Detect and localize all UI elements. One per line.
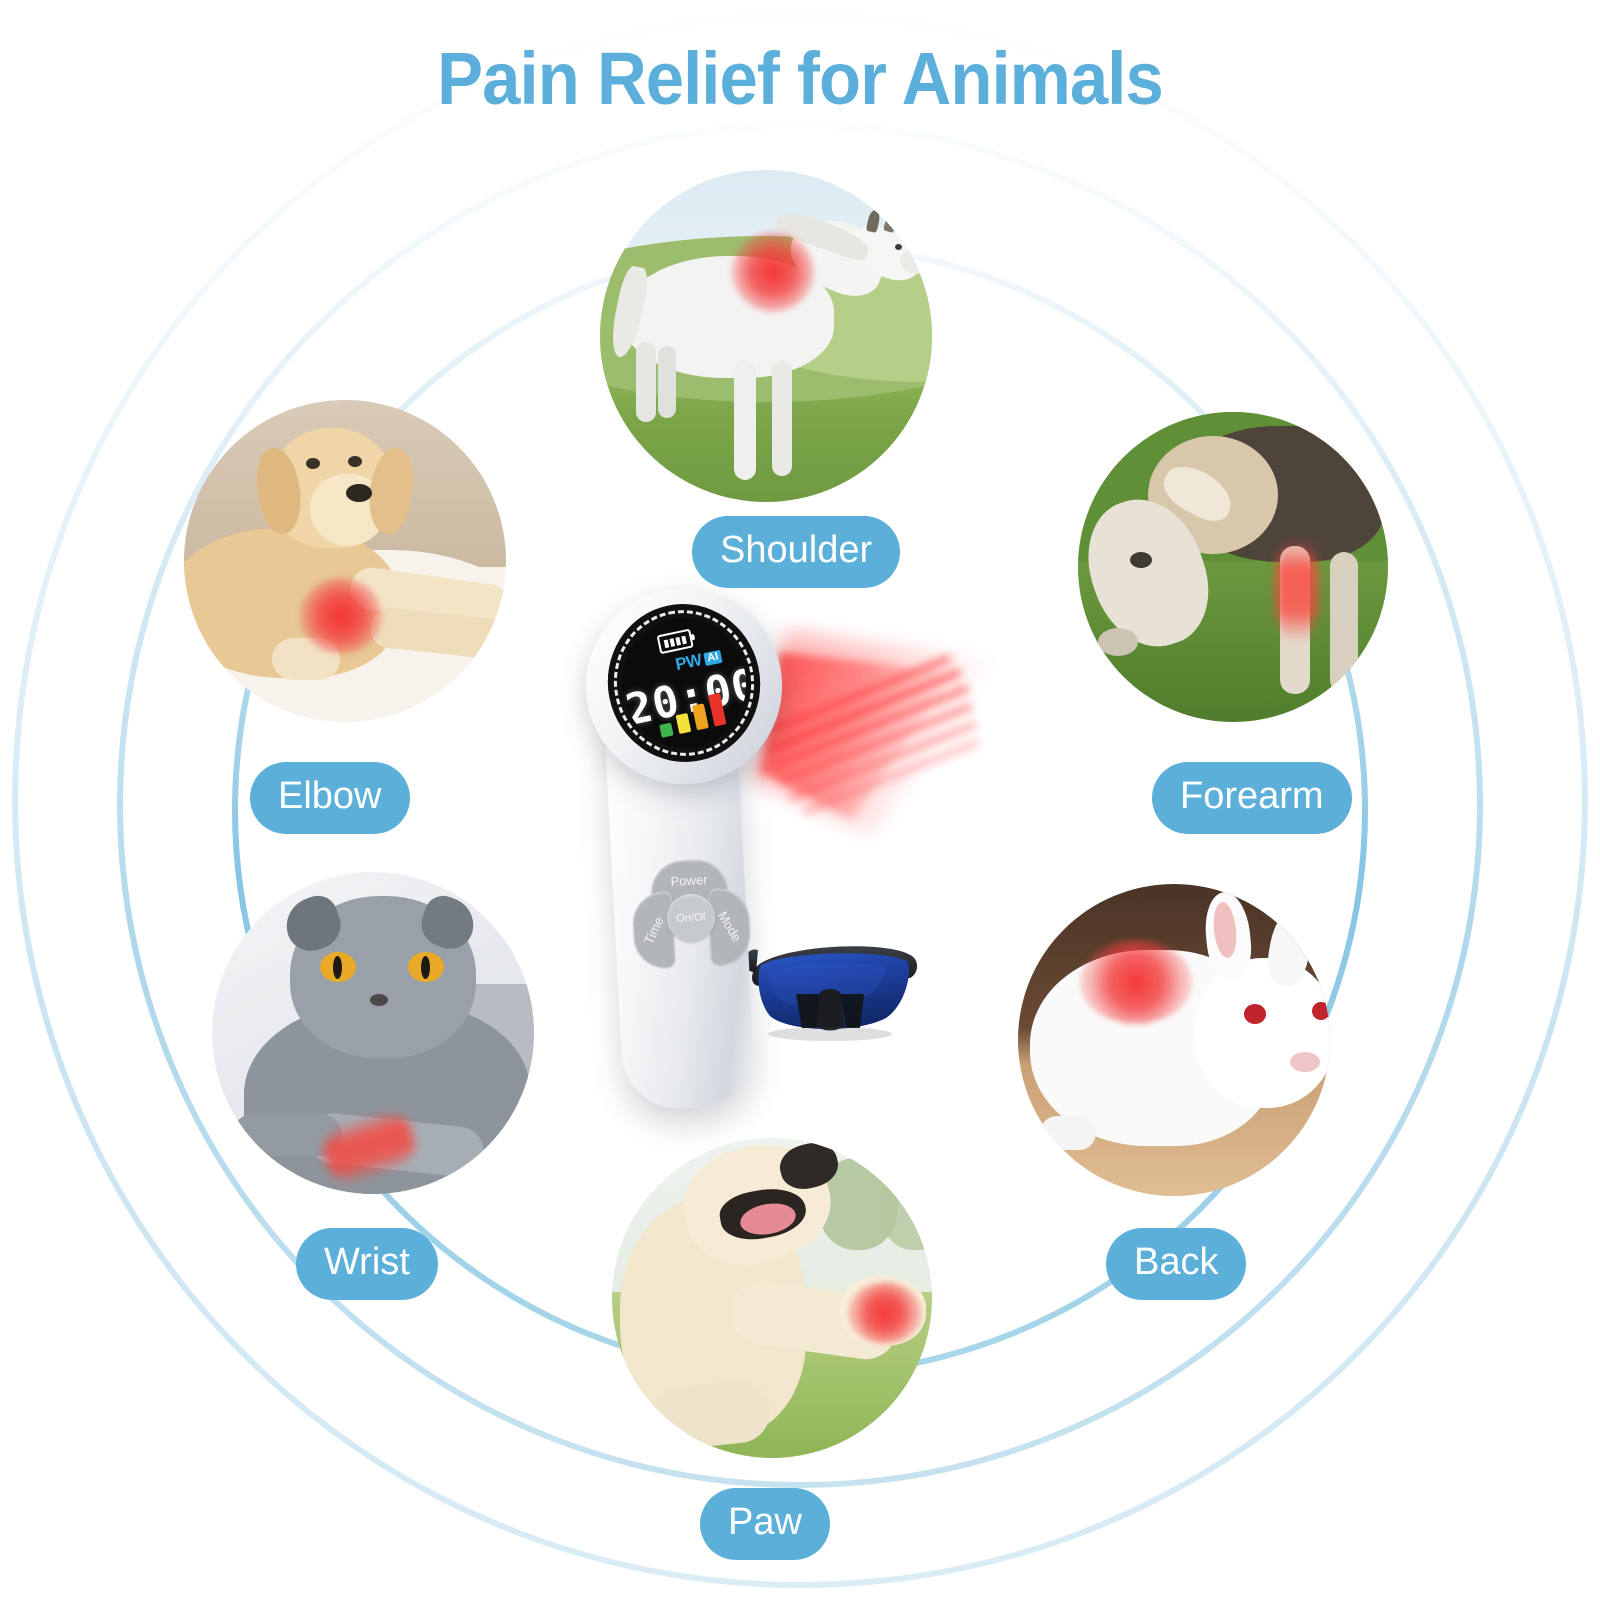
- pain-indicator-elbow: [300, 578, 382, 654]
- photo-shoulder: [600, 170, 932, 502]
- page-title: Pain Relief for Animals: [56, 36, 1544, 121]
- level-bar-3: [692, 703, 709, 730]
- time-button-label: Time: [641, 914, 667, 946]
- mode-button[interactable]: Mode: [708, 887, 752, 965]
- mode-button-label: Mode: [715, 908, 745, 944]
- pain-indicator-forearm: [1276, 538, 1318, 642]
- device-button-pad: Power Time Mode On/Of: [630, 857, 752, 979]
- photo-scene-sheep: [1078, 412, 1388, 722]
- label-shoulder: Shoulder: [692, 516, 900, 588]
- photo-elbow: [184, 400, 506, 722]
- photo-scene-cat: [212, 872, 534, 1194]
- level-bar-2: [676, 713, 692, 734]
- photo-forearm: [1078, 412, 1388, 722]
- photo-scene-puppy-paw: [612, 1138, 932, 1458]
- label-back: Back: [1106, 1228, 1246, 1300]
- photo-scene-horse: [600, 170, 932, 502]
- time-button[interactable]: Time: [632, 891, 676, 969]
- laser-therapy-device[interactable]: PW AI 20:00 Power Time Mode On/Of: [586, 588, 796, 1068]
- battery-full-icon: [657, 629, 694, 655]
- pain-indicator-paw: [848, 1282, 922, 1344]
- level-bar-1: [659, 723, 673, 738]
- label-forearm: Forearm: [1152, 762, 1352, 834]
- mode-badge: AI: [703, 649, 722, 665]
- label-paw: Paw: [700, 1488, 830, 1560]
- infographic-stage: Pain Relief for Animals Shoulde: [0, 0, 1600, 1600]
- photo-scene-rabbit: [1018, 884, 1330, 1196]
- pain-indicator-back: [1080, 940, 1192, 1024]
- photo-scene-dog-sofa: [184, 400, 506, 722]
- photo-paw: [612, 1138, 932, 1458]
- label-wrist: Wrist: [296, 1228, 438, 1300]
- label-elbow: Elbow: [250, 762, 410, 834]
- screen-face: PW AI 20:00: [610, 607, 758, 760]
- photo-wrist: [212, 872, 534, 1194]
- pain-indicator-shoulder: [732, 232, 814, 312]
- photo-back: [1018, 884, 1330, 1196]
